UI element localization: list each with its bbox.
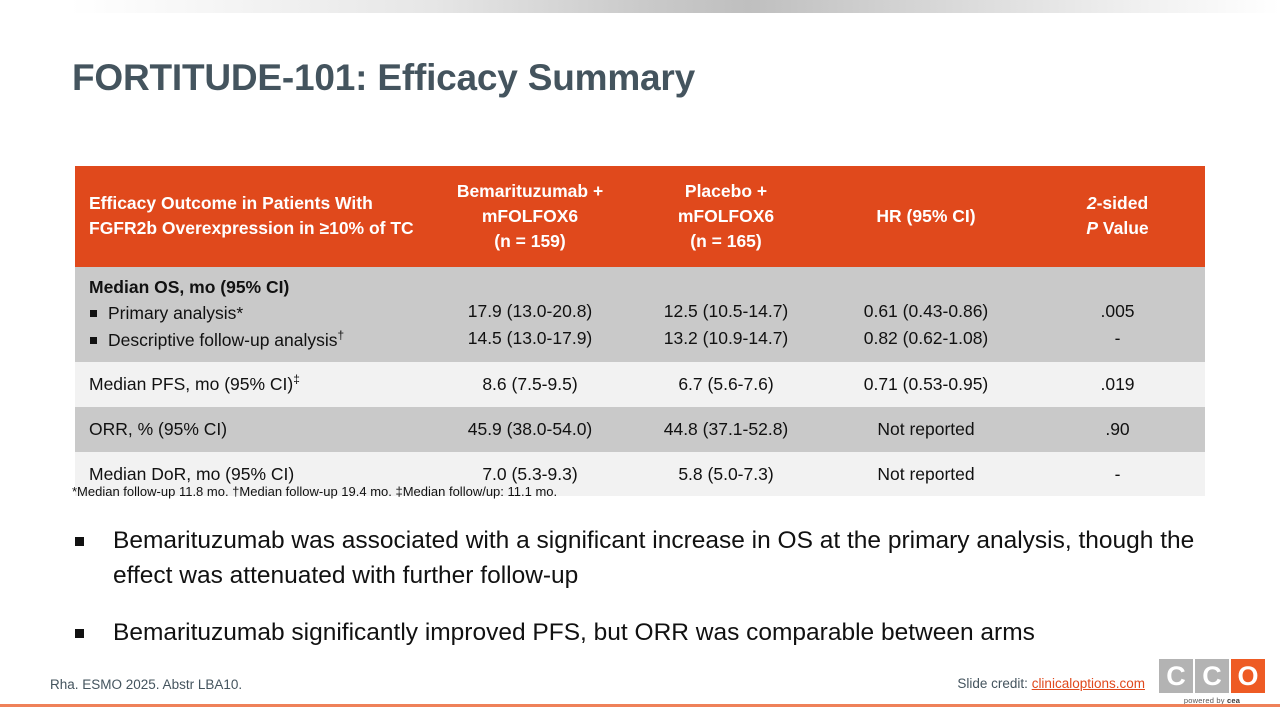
cell-orr-p-value: .90 — [1030, 407, 1205, 452]
header-line-3: (n = 165) — [630, 229, 822, 254]
header-line-1: 2-sided — [1030, 191, 1205, 216]
square-bullet-icon — [90, 337, 97, 344]
cell-os-p-value: .005 - — [1030, 267, 1205, 363]
cco-logo: C C O powered by cea — [1159, 659, 1265, 705]
top-decorative-band — [70, 0, 1280, 13]
cell-dor-hr: Not reported — [822, 452, 1030, 497]
cco-letter-c1: C — [1159, 659, 1193, 693]
clinicaloptions-link[interactable]: clinicaloptions.com — [1032, 676, 1145, 691]
cco-logo-squares: C C O — [1159, 659, 1265, 693]
column-header-p-value: 2-sided P Value — [1030, 166, 1205, 267]
cell-orr-placebo: 44.8 (37.1-52.8) — [630, 407, 822, 452]
column-header-hazard-ratio: HR (95% CI) — [822, 166, 1030, 267]
table-row-median-pfs: Median PFS, mo (95% CI)‡ 8.6 (7.5-9.5) 6… — [75, 362, 1205, 407]
list-item: Bemarituzumab was associated with a sign… — [72, 524, 1222, 594]
value-primary: 0.61 (0.43-0.86) — [822, 268, 1030, 325]
os-subitem-primary-label: Primary analysis* — [108, 303, 243, 323]
header-line-2: mFOLFOX6 — [430, 204, 630, 229]
cell-pfs-placebo: 6.7 (5.6-7.6) — [630, 362, 822, 407]
value-descriptive: - — [1030, 325, 1205, 352]
p-2-italic: 2 — [1087, 193, 1097, 213]
cell-os-placebo: 12.5 (10.5-14.7) 13.2 (10.9-14.7) — [630, 267, 822, 363]
os-subitem-descriptive: Descriptive follow-up analysis† — [89, 327, 430, 354]
source-citation: Rha. ESMO 2025. Abstr LBA10. — [50, 677, 242, 692]
value-primary: .005 — [1030, 268, 1205, 325]
list-item-text: Bemarituzumab significantly improved PFS… — [113, 619, 1035, 646]
footer-divider — [0, 704, 1280, 707]
table-row-median-os: Median OS, mo (95% CI) Primary analysis*… — [75, 267, 1205, 363]
row-label-orr: ORR, % (95% CI) — [75, 407, 430, 452]
table-footnote: *Median follow-up 11.8 mo. †Median follo… — [72, 484, 557, 499]
cell-os-hr: 0.61 (0.43-0.86) 0.82 (0.62-1.08) — [822, 267, 1030, 363]
cell-orr-hr: Not reported — [822, 407, 1030, 452]
table-header-row: Efficacy Outcome in Patients With FGFR2b… — [75, 166, 1205, 267]
cell-dor-placebo: 5.8 (5.0-7.3) — [630, 452, 822, 497]
row-label-text: Median PFS, mo (95% CI) — [89, 374, 293, 394]
cell-pfs-p-value: .019 — [1030, 362, 1205, 407]
row-label-median-os: Median OS, mo (95% CI) Primary analysis*… — [75, 267, 430, 363]
key-findings-list: Bemarituzumab was associated with a sign… — [72, 524, 1222, 672]
p-italic: P — [1086, 218, 1098, 238]
row-label-text: ORR, % (95% CI) — [89, 419, 227, 439]
column-header-placebo: Placebo + mFOLFOX6 (n = 165) — [630, 166, 822, 267]
row-label-text: Median DoR, mo (95% CI) — [89, 464, 294, 484]
square-bullet-icon — [75, 629, 84, 638]
header-line-1: Bemarituzumab + — [430, 179, 630, 204]
square-bullet-icon — [75, 537, 84, 546]
value-descriptive: 14.5 (13.0-17.9) — [430, 325, 630, 352]
double-dagger-superscript: ‡ — [293, 372, 300, 386]
cell-dor-p-value: - — [1030, 452, 1205, 497]
dagger-superscript: † — [338, 328, 345, 342]
header-line-1: Placebo + — [630, 179, 822, 204]
cell-os-bemarituzumab: 17.9 (13.0-20.8) 14.5 (13.0-17.9) — [430, 267, 630, 363]
os-subitem-descriptive-label: Descriptive follow-up analysis — [108, 330, 338, 350]
value-descriptive: 0.82 (0.62-1.08) — [822, 325, 1030, 352]
value-primary: 17.9 (13.0-20.8) — [430, 268, 630, 325]
header-line-2: mFOLFOX6 — [630, 204, 822, 229]
value-primary: 12.5 (10.5-14.7) — [630, 268, 822, 325]
p-value-text: Value — [1098, 218, 1149, 238]
os-heading: Median OS, mo (95% CI) — [89, 267, 430, 301]
cco-letter-o: O — [1231, 659, 1265, 693]
slide-credit: Slide credit: clinicaloptions.com — [957, 676, 1145, 691]
column-header-outcome: Efficacy Outcome in Patients With FGFR2b… — [75, 166, 430, 267]
cell-orr-bemarituzumab: 45.9 (38.0-54.0) — [430, 407, 630, 452]
list-item-text: Bemarituzumab was associated with a sign… — [113, 527, 1194, 589]
table-row-orr: ORR, % (95% CI) 45.9 (38.0-54.0) 44.8 (3… — [75, 407, 1205, 452]
page-title: FORTITUDE-101: Efficacy Summary — [72, 57, 695, 99]
p-sided-text: -sided — [1097, 193, 1149, 213]
header-line-2: P Value — [1030, 216, 1205, 241]
cell-pfs-bemarituzumab: 8.6 (7.5-9.5) — [430, 362, 630, 407]
column-header-bemarituzumab: Bemarituzumab + mFOLFOX6 (n = 159) — [430, 166, 630, 267]
efficacy-summary-table: Efficacy Outcome in Patients With FGFR2b… — [75, 166, 1205, 496]
square-bullet-icon — [90, 310, 97, 317]
cco-letter-c2: C — [1195, 659, 1229, 693]
cell-pfs-hr: 0.71 (0.53-0.95) — [822, 362, 1030, 407]
slide-credit-label: Slide credit: — [957, 676, 1031, 691]
os-subitem-primary: Primary analysis* — [89, 300, 430, 327]
row-label-median-pfs: Median PFS, mo (95% CI)‡ — [75, 362, 430, 407]
value-descriptive: 13.2 (10.9-14.7) — [630, 325, 822, 352]
list-item: Bemarituzumab significantly improved PFS… — [72, 616, 1222, 651]
header-line-3: (n = 159) — [430, 229, 630, 254]
